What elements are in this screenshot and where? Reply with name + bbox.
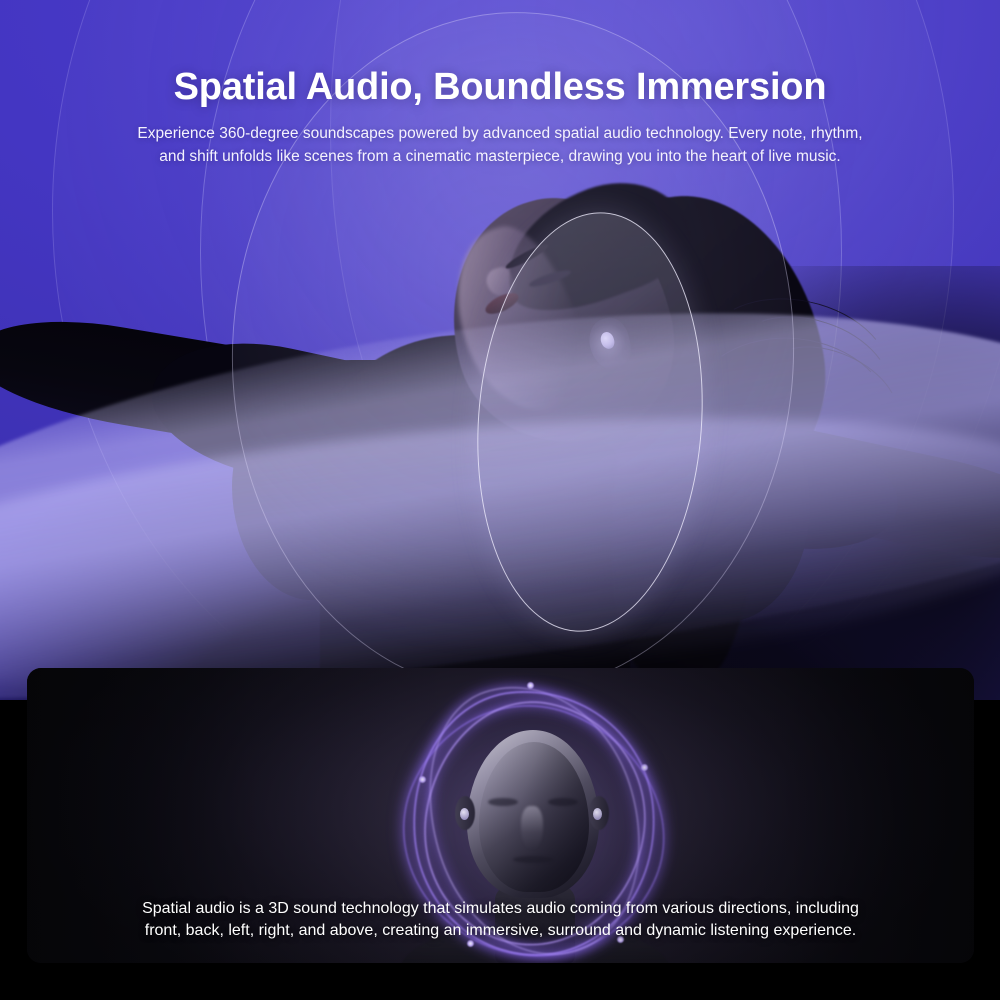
hero-subtitle: Experience 360-degree soundscapes powere… (85, 122, 915, 169)
panel-caption: Spatial audio is a 3D sound technology t… (27, 898, 974, 943)
spatial-audio-panel: Spatial audio is a 3D sound technology t… (27, 668, 974, 963)
hero-section: Spatial Audio, Boundless Immersion Exper… (0, 0, 1000, 700)
panel-caption-line-2: front, back, left, right, and above, cre… (27, 920, 974, 943)
hero-subtitle-line-1: Experience 360-degree soundscapes powere… (85, 122, 915, 146)
panel-caption-line-1: Spatial audio is a 3D sound technology t… (27, 898, 974, 921)
page-title: Spatial Audio, Boundless Immersion (0, 0, 1000, 110)
promo-page: Spatial Audio, Boundless Immersion Exper… (0, 0, 1000, 1000)
hero-subtitle-line-2: and shift unfolds like scenes from a cin… (85, 145, 915, 169)
hero-text-block: Spatial Audio, Boundless Immersion Exper… (0, 0, 1000, 169)
